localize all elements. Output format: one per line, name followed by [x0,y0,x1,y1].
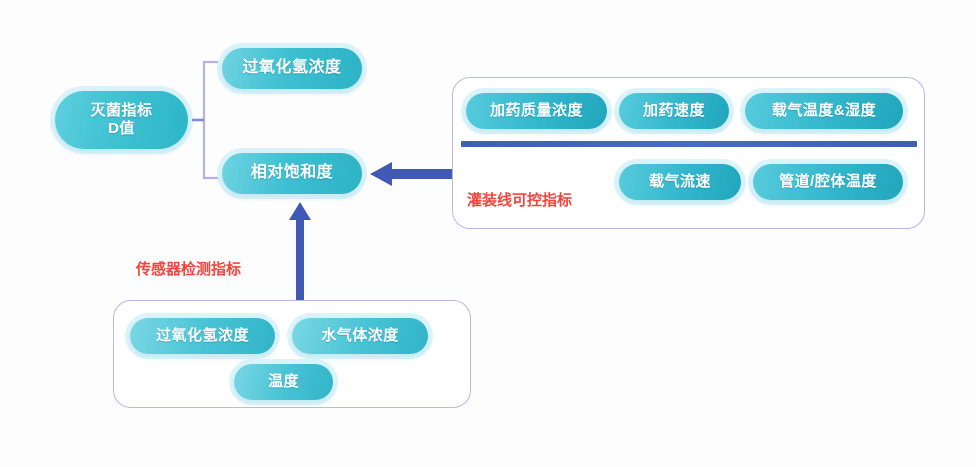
pill-pipe-chamber-temperature[interactable]: 管道/腔体温度 [753,164,903,200]
branch-bracket [190,60,222,180]
panel-controllable-indicators: 加药质量浓度 加药速度 载气温度&湿度 载气流速 管道/腔体温度 灌装线可控指标 [452,77,925,229]
controllable-row1-2-label: 载气温度&湿度 [772,102,876,120]
node-hydrogen-peroxide-concentration[interactable]: 过氧化氢浓度 [222,48,362,89]
pill-carrier-gas-temp-humidity[interactable]: 载气温度&湿度 [745,93,903,129]
root-node-line2: D值 [108,120,135,138]
pill-dosing-speed[interactable]: 加药速度 [619,93,729,129]
pill-sensor-temperature[interactable]: 温度 [234,364,333,400]
branch-node-1-label: 相对饱和度 [251,164,334,183]
root-node-line1: 灭菌指标 [90,102,152,120]
controllable-panel-caption: 灌装线可控指标 [467,189,572,210]
sensor-row1-1-label: 水气体浓度 [321,327,399,345]
arrow-left-controllable-to-saturation [368,160,452,188]
panel-divider [461,141,917,147]
sensor-panel-caption: 传感器检测指标 [136,258,241,279]
branch-node-0-label: 过氧化氢浓度 [242,59,341,78]
pill-sensor-water-vapor-concentration[interactable]: 水气体浓度 [292,318,428,354]
node-sterilization-d-value[interactable]: 灭菌指标 D值 [55,91,188,149]
pill-carrier-gas-flow-rate[interactable]: 载气流速 [619,164,741,200]
controllable-row1-1-label: 加药速度 [643,102,705,120]
pill-sensor-hydrogen-peroxide-concentration[interactable]: 过氧化氢浓度 [130,318,275,354]
sensor-row2-0-label: 温度 [268,373,299,391]
diagram-canvas: 灭菌指标 D值 过氧化氢浓度 相对饱和度 加药质量浓度 加药速度 [0,0,976,467]
panel-sensor-indicators: 过氧化氢浓度 水气体浓度 温度 [113,300,471,408]
node-relative-saturation[interactable]: 相对饱和度 [222,153,362,194]
controllable-row2-0-label: 载气流速 [649,173,711,191]
sensor-row1-0-label: 过氧化氢浓度 [156,327,249,345]
controllable-row2-1-label: 管道/腔体温度 [779,173,877,191]
controllable-row1-0-label: 加药质量浓度 [490,102,583,120]
pill-dosing-mass-concentration[interactable]: 加药质量浓度 [466,93,607,129]
arrow-up-sensor-to-saturation [287,200,313,300]
